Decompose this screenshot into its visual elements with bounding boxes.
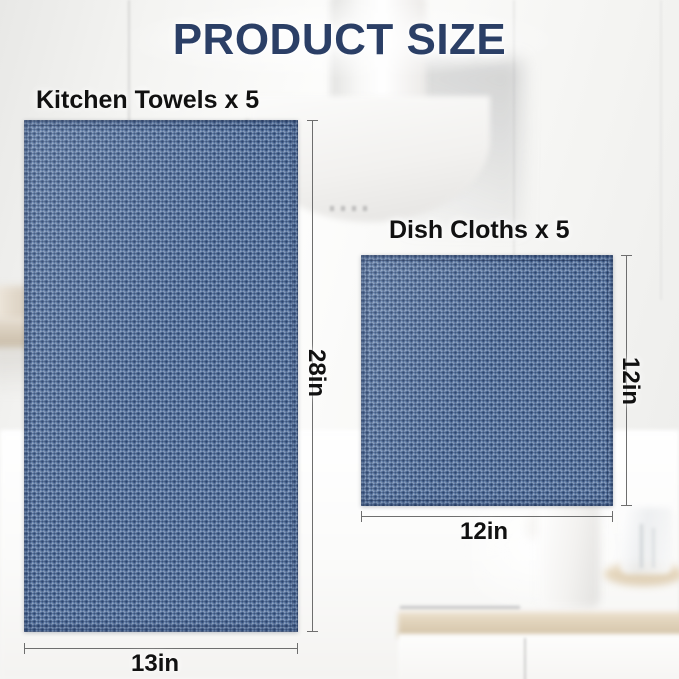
cabinet-seam (524, 638, 526, 679)
cloth-height-cap-top (621, 255, 632, 256)
cloth-height-value: 12in (616, 357, 644, 405)
pitcher (538, 498, 600, 608)
towel-height-value: 28in (302, 349, 330, 397)
towel-width-cap-right (297, 643, 298, 654)
product-size-infographic: PRODUCT SIZE Kitchen Towels x 5 13in 28i… (0, 0, 679, 679)
towel-height-cap-top (307, 120, 318, 121)
cloth-width-dimension-line (361, 516, 613, 517)
counter-edge (400, 606, 520, 609)
towel-height-cap-bottom (307, 631, 318, 632)
cabinet-front (398, 634, 679, 679)
drinking-glass (620, 508, 672, 574)
cloth-width-cap-right (612, 511, 613, 522)
waffle-weave-texture (361, 255, 613, 506)
towel-width-cap-left (24, 643, 25, 654)
kitchen-towels-label: Kitchen Towels x 5 (36, 86, 259, 115)
towel-width-value: 13in (131, 650, 179, 678)
range-hood-lights (330, 206, 374, 211)
cloth-width-value: 12in (460, 518, 508, 546)
towel-width-dimension-line (24, 648, 298, 649)
cloth-height-cap-bottom (621, 505, 632, 506)
dish-cloth-swatch (361, 255, 613, 506)
dish-cloths-label: Dish Cloths x 5 (389, 216, 570, 245)
kitchen-towel-swatch (24, 120, 298, 632)
glass-highlight (640, 524, 643, 568)
page-title: PRODUCT SIZE (0, 15, 679, 65)
cloth-width-cap-left (361, 511, 362, 522)
glass-highlight (652, 528, 655, 568)
waffle-weave-texture (24, 120, 298, 632)
